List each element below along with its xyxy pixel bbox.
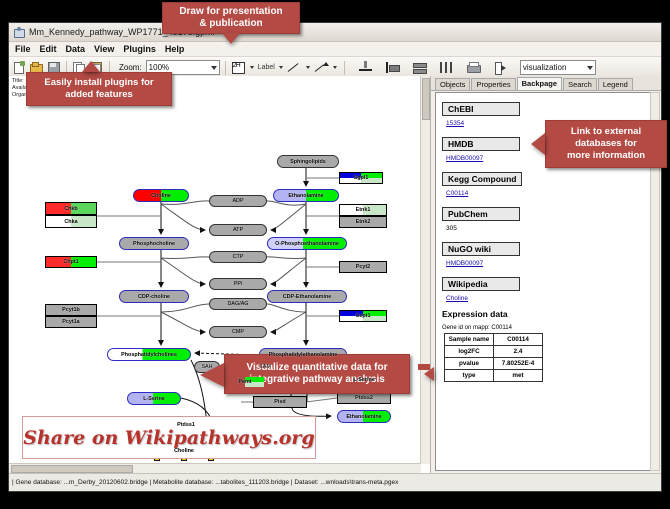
db-entry-nugo: NuGO wiki HMDB00097 (442, 239, 650, 267)
gene-node[interactable]: Sgpl1 (339, 172, 383, 184)
db-link[interactable]: HMDB00097 (446, 260, 650, 267)
node-label: Choline (151, 193, 171, 199)
tab-properties[interactable]: Properties (471, 78, 515, 90)
menu-item-view[interactable]: View (94, 44, 114, 54)
node-label: Phosphatidylcholines (121, 352, 177, 358)
node-label: SAH (201, 364, 212, 370)
export-icon[interactable] (493, 60, 508, 75)
gene-node[interactable]: Etnk1 (339, 204, 387, 216)
window-titlebar: Mm_Kennedy_pathway_WP1771_45176.gpml (9, 23, 661, 42)
toolbar-separator (344, 61, 345, 75)
label-tool-label[interactable]: Label (258, 64, 275, 71)
tab-backpage[interactable]: Backpage (517, 77, 562, 90)
share-banner: Share on Wikipathways.org (22, 416, 316, 459)
metabolite-node[interactable]: O-Phosphoethanolamine (267, 237, 347, 250)
menu-item-file[interactable]: File (15, 44, 31, 54)
cofactor-node[interactable]: CTP (209, 251, 267, 263)
scrollbar-thumb[interactable] (11, 465, 133, 473)
db-entry-pubchem: PubChem 305 (442, 204, 650, 232)
visualization-value: visualization (523, 63, 567, 72)
metabolite-node[interactable]: L-Serine (127, 392, 181, 405)
callout-link-databases: Link to external databases for more info… (545, 120, 667, 168)
db-header: PubChem (442, 207, 520, 221)
node-label: PPi (234, 281, 242, 287)
menu-item-plugins[interactable]: Plugins (123, 44, 156, 54)
menu-item-help[interactable]: Help (165, 44, 185, 54)
gene-node[interactable]: Chpt1 (45, 256, 97, 268)
side-panel-tabs: Objects Properties Backpage Search Legen… (431, 76, 661, 91)
status-text: | Gene database: ...m_Derby_20120602.bri… (12, 479, 398, 486)
screenshot-root: Mm_Kennedy_pathway_WP1771_45176.gpml Fil… (0, 0, 670, 509)
tab-objects[interactable]: Objects (435, 78, 470, 90)
metabolite-node[interactable]: CDP-Ethanolamine (267, 290, 347, 303)
cofactor-node[interactable]: CMP (209, 326, 267, 338)
db-header: NuGO wiki (442, 242, 520, 256)
node-label: O-Phosphoethanolamine (275, 241, 339, 247)
node-label: Sgpl1 (354, 175, 369, 181)
callout-visualize: Visualize quantitative data for integrat… (224, 354, 410, 394)
table-cell-key: pvalue (445, 358, 494, 370)
node-label: Pcyt2 (356, 264, 370, 270)
chevron-down-icon (587, 66, 593, 70)
scrollbar-thumb[interactable] (422, 78, 430, 120)
node-label: Etnk1 (356, 207, 371, 213)
chevron-down-icon[interactable] (279, 66, 283, 69)
node-label: Chkb (64, 206, 77, 212)
node-label: Pcyt1b (62, 307, 80, 313)
node-label: Pisd (274, 399, 285, 405)
cofactor-node[interactable]: ATP (209, 224, 267, 236)
table-cell-key: Sample name (445, 334, 494, 346)
node-label: SAM (259, 364, 271, 370)
gene-node[interactable]: Etnk2 (339, 216, 387, 228)
node-label: L-Serine (143, 396, 165, 402)
table-row: log2FC 2.4 (445, 346, 543, 358)
node-label: Ptdss1 (177, 422, 195, 428)
node-label: L-Serine (353, 377, 375, 383)
zoom-label: Zoom: (119, 63, 142, 72)
callout-plugins-line2: added features (65, 89, 133, 101)
db-header: HMDB (442, 137, 520, 151)
callout-link-pointer (531, 133, 545, 155)
chevron-down-icon[interactable] (306, 66, 310, 69)
cofactor-node[interactable]: ADP (209, 195, 267, 207)
menubar: File Edit Data View Plugins Help (9, 42, 661, 57)
stack-icon[interactable] (412, 60, 427, 75)
table-cell-key: log2FC (445, 346, 494, 358)
expression-data-table: Sample name C00114 log2FC 2.4 pvalue 7.8… (444, 333, 543, 382)
chevron-down-icon (211, 66, 217, 70)
table-cell-value: 2.4 (494, 346, 543, 358)
gene-node[interactable]: Chkb (45, 202, 97, 215)
share-text: Share on Wikipathways.org (23, 427, 314, 449)
menu-item-edit[interactable]: Edit (40, 44, 57, 54)
callout-draw-line1: Draw for presentation (179, 6, 282, 18)
cofactor-node[interactable]: DAG/AG (209, 298, 267, 310)
db-link[interactable]: C00114 (446, 190, 650, 197)
callout-link-line2: databases for (575, 138, 637, 150)
db-header: Kegg Compound (442, 172, 522, 186)
tab-search[interactable]: Search (563, 78, 597, 90)
metabolite-node[interactable]: Ethanolamine (273, 189, 339, 202)
node-label: ATP (233, 227, 243, 233)
table-cell-value: met (494, 370, 543, 382)
expression-data-title: Expression data (442, 309, 650, 319)
new-file-icon[interactable] (12, 60, 27, 75)
node-label: Phosphatidylethanolamine (269, 352, 338, 358)
callout-draw-line2: & publication (199, 18, 262, 30)
table-cell-value: C00114 (494, 334, 543, 346)
menu-item-data[interactable]: Data (66, 44, 86, 54)
pathvisio-app-icon (13, 26, 25, 38)
callout-draw-pointer (222, 33, 240, 44)
metabolite-node[interactable]: Sphingolipids (277, 155, 339, 168)
callout-link-line1: Link to external (571, 126, 641, 138)
node-label: CDP-Ethanolamine (283, 294, 332, 300)
callout-plugins-line1: Easily install plugins for (44, 77, 153, 89)
node-label: Pemt (238, 379, 251, 385)
print-icon[interactable] (466, 60, 481, 75)
metabolite-node[interactable]: Phosphatidylcholines (107, 348, 191, 361)
node-label: Chpt1 (63, 259, 78, 265)
datanode-icon[interactable] (231, 60, 246, 75)
gene-node[interactable]: Pcyt1a (45, 316, 97, 328)
node-label: Etnk2 (356, 219, 371, 225)
canvas-vertical-scrollbar[interactable] (420, 76, 430, 464)
chevron-down-icon[interactable] (250, 66, 254, 69)
node-label: ADP (232, 198, 243, 204)
metabolite-node[interactable]: Choline (133, 189, 189, 202)
gene-node[interactable]: Chka (45, 215, 97, 228)
visualization-combo[interactable]: visualization (520, 60, 596, 75)
gene-id-label: Gene id on mapp: C00114 (442, 325, 650, 331)
node-label: CMP (232, 329, 244, 335)
table-row: pvalue 7.80252E-4 (445, 358, 543, 370)
node-label: CDP-choline (138, 294, 170, 300)
db-header: ChEBI (442, 102, 520, 116)
canvas-horizontal-scrollbar[interactable] (9, 463, 421, 473)
pathway-canvas[interactable]: Title: Available Organism (9, 76, 431, 473)
tab-legend[interactable]: Legend (598, 78, 633, 90)
node-label: Cept1 (356, 313, 371, 319)
align-left-icon[interactable] (385, 60, 400, 75)
table-cell-value: 7.80252E-4 (494, 358, 543, 370)
status-bar: | Gene database: ...m_Derby_20120602.bri… (9, 473, 661, 491)
zoom-value: 100% (149, 63, 169, 72)
line-icon[interactable] (287, 60, 302, 75)
node-label: CTP (233, 254, 244, 260)
align-bottom-icon[interactable] (358, 60, 373, 75)
gene-node[interactable]: Pcyt1b (45, 304, 97, 316)
node-label: Sphingolipids (290, 159, 326, 165)
node-label: DAG/AG (228, 301, 249, 307)
node-label: Pcyt1a (62, 319, 79, 325)
db-link[interactable]: Choline (446, 295, 650, 302)
gene-node[interactable]: Pcyt2 (339, 261, 387, 273)
node-label: Ethanolamine (346, 414, 381, 420)
table-row: type met (445, 370, 543, 382)
callout-plugins: Easily install plugins for added feature… (26, 72, 172, 106)
metabolite-node[interactable]: CDP-choline (119, 290, 189, 303)
table-cell-key: type (445, 370, 494, 382)
chevron-down-icon[interactable] (333, 66, 337, 69)
gene-node[interactable]: Pisd (253, 396, 307, 408)
db-value: 305 (446, 225, 650, 232)
node-label: Chka (64, 219, 77, 225)
arrow-line-icon[interactable] (314, 60, 329, 75)
cofactor-node[interactable]: PPi (209, 278, 267, 290)
gene-node[interactable]: Cept1 (339, 310, 387, 322)
toolbar-separator (225, 61, 226, 75)
db-entry-kegg: Kegg Compound C00114 (442, 169, 650, 197)
distribute-icon[interactable] (439, 60, 454, 75)
node-label: Choline (174, 448, 194, 454)
node-label: Ethanolamine (288, 193, 323, 199)
callout-plugins-pointer (82, 61, 100, 72)
callout-draw: Draw for presentation & publication (162, 2, 300, 34)
metabolite-node[interactable]: Ethanolamine (337, 410, 391, 423)
node-label: Phosphocholine (133, 241, 175, 247)
callout-expression-pointer (424, 367, 434, 381)
node-label: Ptdss2 (355, 395, 373, 401)
db-header: Wikipedia (442, 277, 520, 291)
metabolite-node[interactable]: Phosphocholine (119, 237, 189, 250)
table-row: Sample name C00114 (445, 334, 543, 346)
callout-link-line3: more information (567, 150, 645, 162)
db-entry-wikipedia: Wikipedia Choline (442, 274, 650, 302)
pathway-drawing[interactable]: Title: Available Organism (9, 76, 430, 473)
